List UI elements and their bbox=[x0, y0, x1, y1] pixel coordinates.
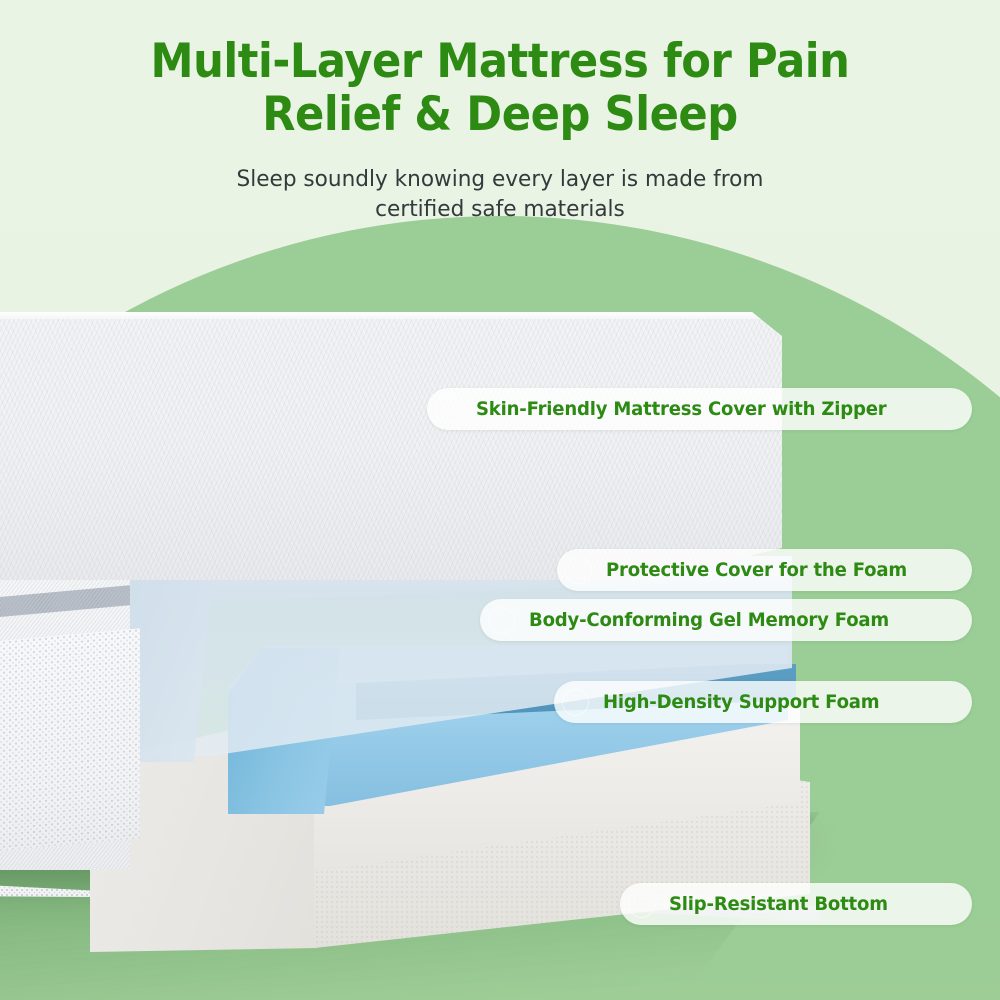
callout-label: High-Density Support Foam bbox=[603, 691, 879, 713]
callout-gel-memory-foam[interactable]: Body-Conforming Gel Memory Foam bbox=[480, 599, 972, 641]
page-title: Multi-Layer Mattress for Pain Relief & D… bbox=[40, 36, 960, 141]
callout-label: Body-Conforming Gel Memory Foam bbox=[529, 609, 889, 631]
callout-skin-friendly-cover[interactable]: Skin-Friendly Mattress Cover with Zipper bbox=[427, 388, 972, 430]
bullet-dot-icon bbox=[565, 557, 592, 584]
infographic-canvas: Multi-Layer Mattress for Pain Relief & D… bbox=[0, 0, 1000, 1000]
callout-slip-resistant-bottom[interactable]: Slip-Resistant Bottom bbox=[620, 883, 972, 925]
callout-support-foam[interactable]: High-Density Support Foam bbox=[554, 681, 972, 723]
bullet-dot-icon bbox=[488, 607, 515, 634]
callout-label: Skin-Friendly Mattress Cover with Zipper bbox=[476, 398, 886, 420]
bullet-dot-icon bbox=[562, 689, 589, 716]
callout-label: Slip-Resistant Bottom bbox=[669, 893, 888, 915]
page-subtitle: Sleep soundly knowing every layer is mad… bbox=[193, 165, 807, 224]
callout-label: Protective Cover for the Foam bbox=[606, 559, 907, 581]
mattress-cover-top-face bbox=[0, 312, 782, 580]
bullet-dot-icon bbox=[628, 891, 655, 918]
callout-protective-cover[interactable]: Protective Cover for the Foam bbox=[557, 549, 972, 591]
header: Multi-Layer Mattress for Pain Relief & D… bbox=[0, 36, 1000, 225]
bullet-dot-icon bbox=[435, 396, 462, 423]
mattress-cover-top-rim bbox=[0, 312, 782, 319]
